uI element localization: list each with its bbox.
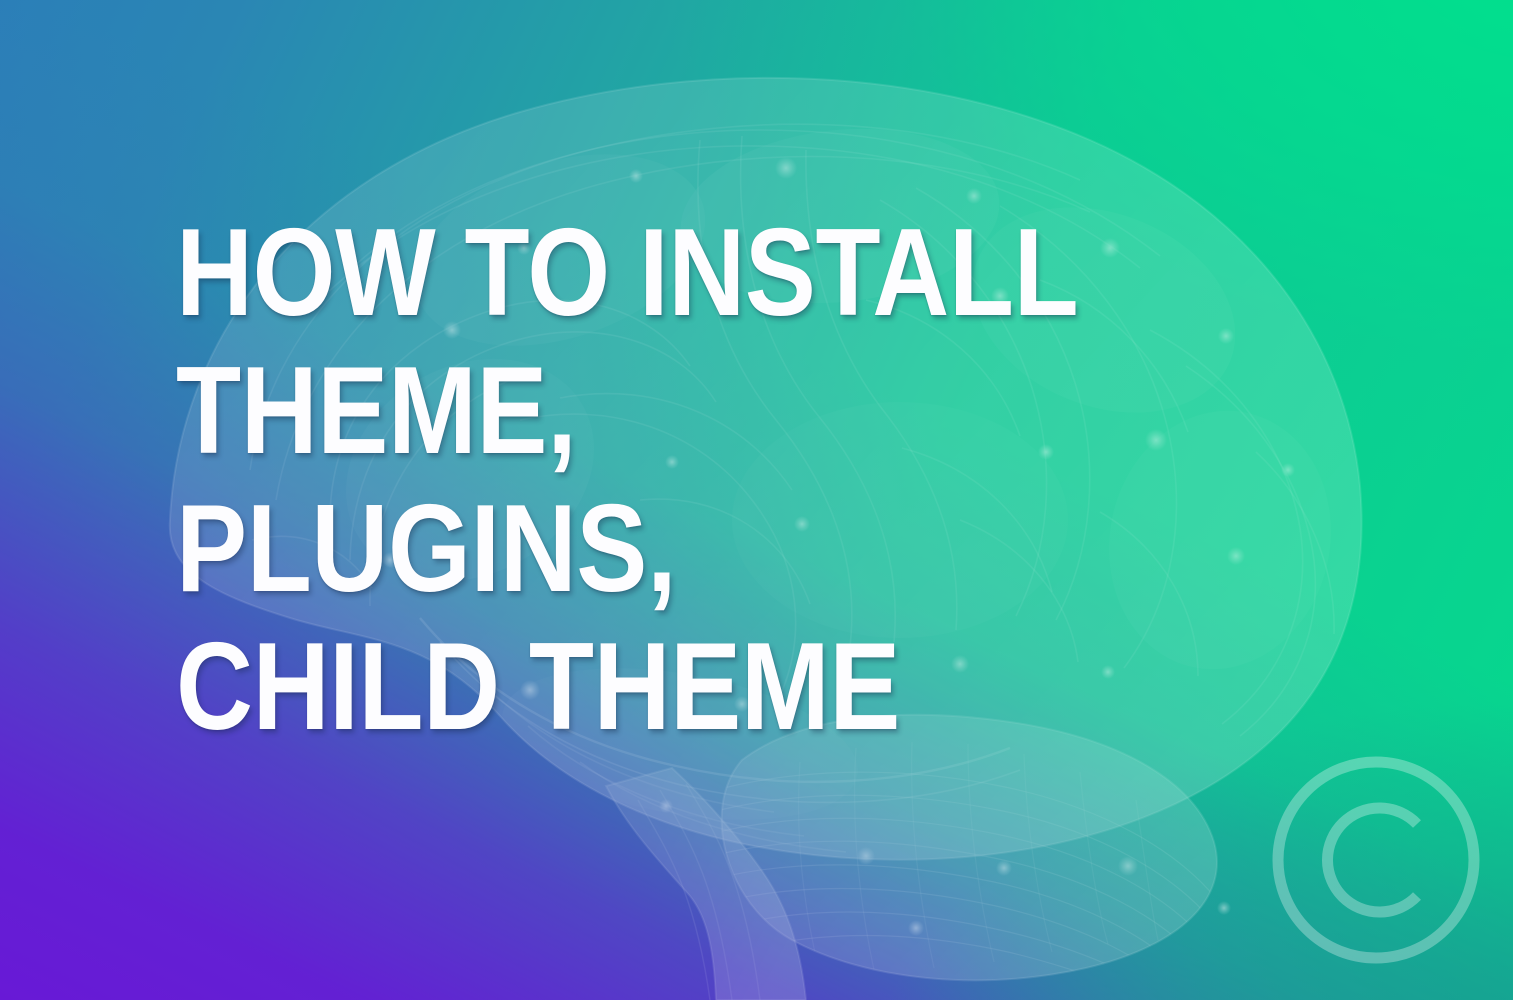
headline-line-2: THEME,: [176, 342, 1260, 480]
headline-line-3: PLUGINS,: [176, 480, 1260, 618]
headline-line-1: HOW TO INSTALL: [176, 204, 1260, 342]
page-title: HOW TO INSTALL THEME, PLUGINS, CHILD THE…: [176, 204, 1436, 756]
headline-line-4: CHILD THEME: [176, 618, 1260, 756]
banner-image: HOW TO INSTALL THEME, PLUGINS, CHILD THE…: [0, 0, 1513, 1000]
